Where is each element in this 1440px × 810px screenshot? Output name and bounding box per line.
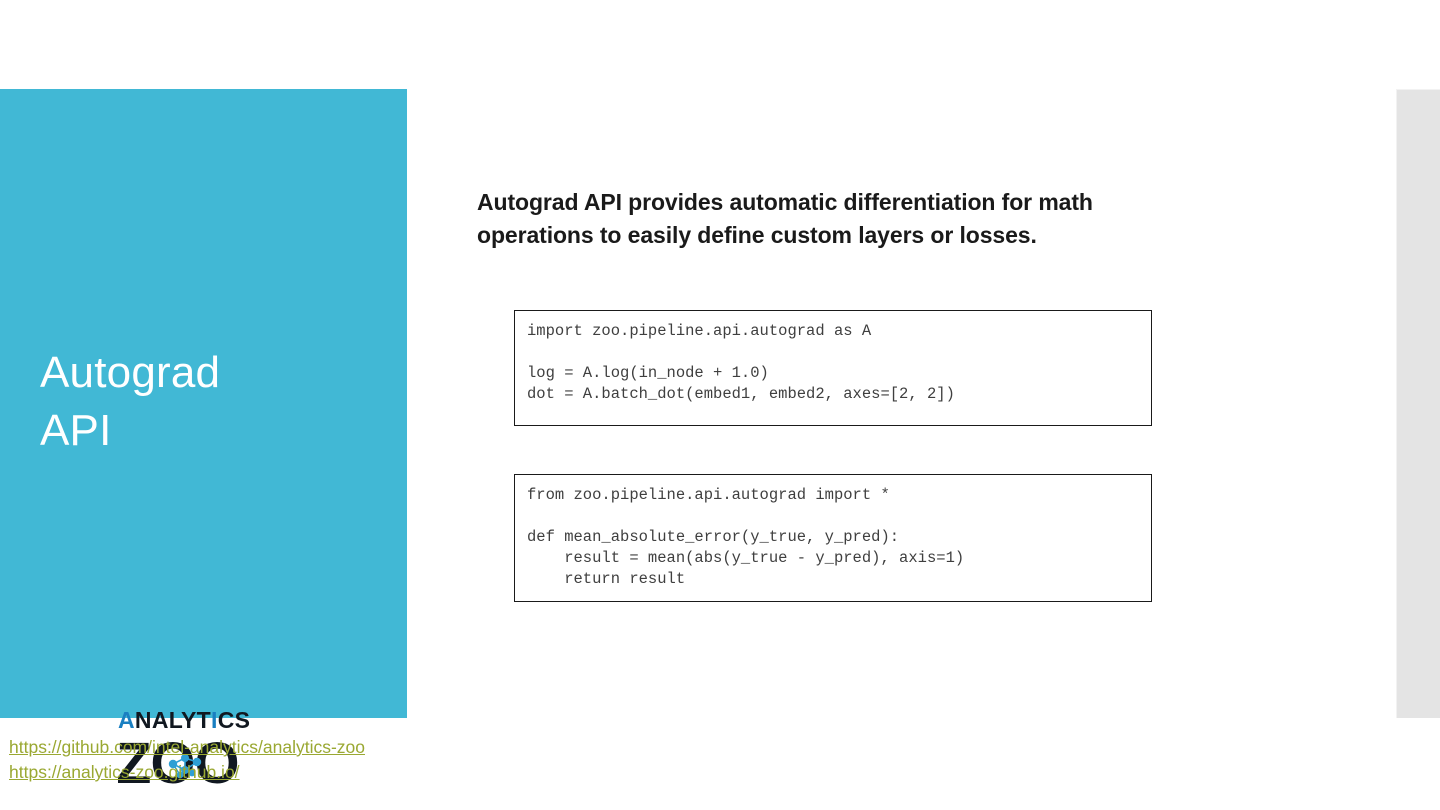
title-panel: Autograd API ANALYTICS ZOO bbox=[0, 89, 407, 718]
link-github-repo[interactable]: https://github.com/intel-analytics/analy… bbox=[9, 735, 439, 760]
right-gray-bar bbox=[1396, 89, 1440, 718]
slide-canvas: Autograd API ANALYTICS ZOO bbox=[0, 0, 1440, 810]
code-block-import-autograd: import zoo.pipeline.api.autograd as A lo… bbox=[514, 310, 1152, 426]
svg-text:ANALYTICS: ANALYTICS bbox=[118, 707, 250, 733]
footer-links: https://github.com/intel-analytics/analy… bbox=[9, 735, 439, 785]
code-block-mean-absolute-error: from zoo.pipeline.api.autograd import * … bbox=[514, 474, 1152, 602]
link-docs-site[interactable]: https://analytics-zoo.github.io/ bbox=[9, 760, 439, 785]
slide-title: Autograd API bbox=[40, 344, 370, 460]
body-heading: Autograd API provides automatic differen… bbox=[477, 186, 1167, 252]
